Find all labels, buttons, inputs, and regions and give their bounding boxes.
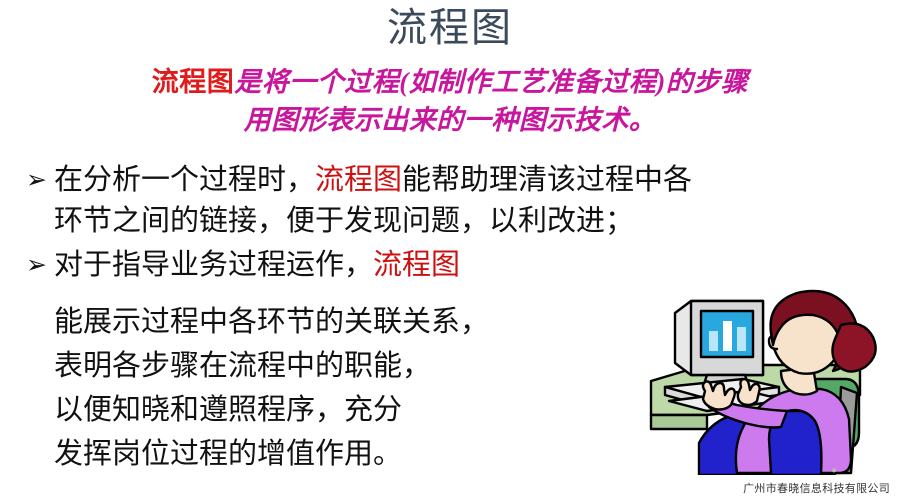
- hair-bun: [832, 324, 875, 372]
- page-title: 流程图: [0, 2, 900, 54]
- bullet-arrow-icon: ➢: [26, 160, 54, 201]
- lower-line-1: 能展示过程中各环节的关联关系，: [54, 300, 674, 344]
- chart-bar-2: [723, 321, 732, 351]
- bullet-2-text: 对于指导业务过程运作，流程图: [54, 245, 876, 286]
- woman-at-computer-illustration: [645, 283, 895, 475]
- chart-bar-3: [737, 327, 746, 351]
- bullet-item-1: ➢ 在分析一个过程时，流程图能帮助理清该过程中各 环节之间的链接，便于发现问题，…: [26, 160, 876, 242]
- bullet-2-continuation: 能展示过程中各环节的关联关系， 表明各步骤在流程中的职能， 以便知晓和遵照程序，…: [54, 300, 674, 476]
- desk-edge: [651, 415, 707, 429]
- intro-line2: 用图形表示出来的一种图示技术。: [0, 101, 900, 139]
- footer-company: 广州市春晓信息科技有限公司: [743, 480, 890, 496]
- bullet-arrow-icon: ➢: [26, 245, 54, 286]
- hand-right: [738, 379, 760, 405]
- lower-line-4: 发挥岗位过程的增值作用。: [54, 432, 674, 476]
- bullet-1-line-2: 环节之间的链接，便于发现问题，以利改进；: [54, 201, 876, 242]
- lower-line-2: 表明各步骤在流程中的职能，: [54, 344, 674, 388]
- slide-canvas: 流程图 流程图是将一个过程(如制作工艺准备过程)的步骤 用图形表示出来的一种图示…: [0, 0, 900, 500]
- bullet-1-line-1: ➢ 在分析一个过程时，流程图能帮助理清该过程中各: [26, 160, 876, 201]
- bullet-2-highlight: 流程图: [373, 249, 460, 281]
- bullet-2-line-1: ➢ 对于指导业务过程运作，流程图: [26, 245, 876, 286]
- bullet-1-post: 能帮助理清该过程中各: [402, 164, 692, 196]
- intro-paragraph: 流程图是将一个过程(如制作工艺准备过程)的步骤 用图形表示出来的一种图示技术。: [0, 63, 900, 139]
- intro-highlight: 流程图: [152, 67, 235, 97]
- lower-line-3: 以便知晓和遵照程序，充分: [54, 388, 674, 432]
- bullet-item-2: ➢ 对于指导业务过程运作，流程图: [26, 245, 876, 286]
- bullet-1-highlight: 流程图: [315, 164, 402, 196]
- watermark-artifact: ●: [831, 465, 837, 476]
- chart-bar-1: [709, 331, 718, 351]
- bullet-1-text: 在分析一个过程时，流程图能帮助理清该过程中各: [54, 160, 876, 201]
- bullet-2-pre: 对于指导业务过程运作，: [54, 249, 373, 281]
- intro-line1-rest: 是将一个过程(如制作工艺准备过程)的步骤: [234, 67, 748, 97]
- bullet-1-pre: 在分析一个过程时，: [54, 164, 315, 196]
